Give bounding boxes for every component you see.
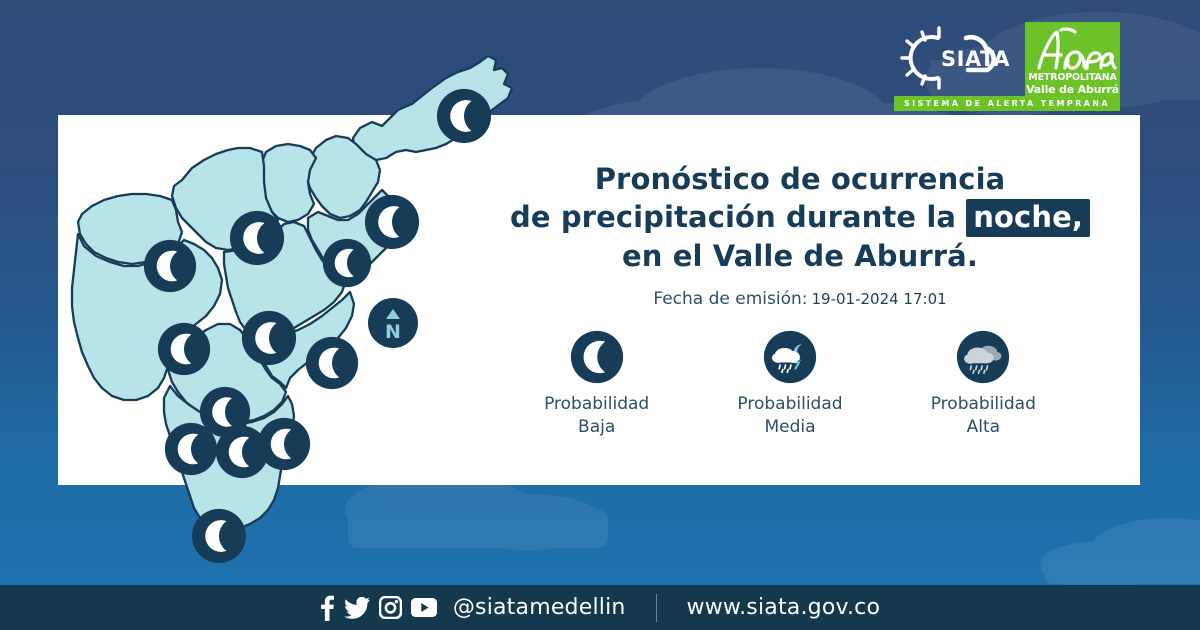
title-line-2: de precipitación durante la noche, — [480, 198, 1120, 237]
map-marker-moon[interactable] — [192, 509, 246, 563]
legend-label-alta: Probabilidad Alta — [898, 393, 1068, 439]
twitter-icon[interactable] — [344, 597, 370, 619]
legend-label-baja: Probabilidad Baja — [512, 393, 682, 439]
siata-tagline: SISTEMA DE ALERTA TEMPRANA — [894, 96, 1120, 111]
svg-text:N: N — [385, 321, 401, 343]
title-line-1: Pronóstico de ocurrencia — [480, 160, 1120, 198]
map-marker-moon[interactable] — [323, 239, 371, 287]
map-marker-moon[interactable] — [230, 211, 284, 265]
area-line2: Valle de Aburrá — [1025, 83, 1120, 96]
social-handle[interactable]: @siatamedellin — [453, 595, 626, 620]
map-svg: N — [60, 48, 540, 568]
area-line1: METROPOLITANA — [1025, 72, 1120, 83]
cloud-heavy-rain-icon — [956, 330, 1010, 384]
youtube-icon[interactable] — [411, 598, 437, 617]
legend-label-baja-line1: Probabilidad — [512, 393, 682, 416]
valle-de-aburra-map: N — [60, 48, 540, 568]
legend-item-alta: Probabilidad Alta — [898, 330, 1068, 439]
emission-value: 19-01-2024 17:01 — [811, 290, 946, 308]
page-title: Pronóstico de ocurrencia de precipitació… — [470, 160, 1130, 275]
map-marker-moon[interactable] — [242, 311, 296, 365]
map-marker-moon[interactable] — [437, 89, 491, 143]
instagram-icon[interactable] — [379, 596, 402, 619]
footer-content: @siatamedellin www.siata.gov.co — [0, 585, 1200, 630]
probability-legend: Probabilidad Baja — [500, 330, 1080, 439]
map-marker-moon[interactable] — [158, 323, 210, 375]
legend-label-baja-line2: Baja — [512, 416, 682, 439]
area-script-icon — [1025, 24, 1120, 74]
map-marker-moon[interactable] — [258, 418, 310, 470]
moon-icon — [570, 330, 624, 384]
compass-north-icon: N — [368, 298, 418, 348]
legend-item-baja: Probabilidad Baja — [512, 330, 682, 439]
map-marker-moon[interactable] — [365, 195, 419, 249]
legend-item-media: Probabilidad Media — [705, 330, 875, 439]
map-marker-moon[interactable] — [306, 337, 358, 389]
legend-label-media: Probabilidad Media — [705, 393, 875, 439]
social-icons — [320, 595, 437, 621]
emission-date: Fecha de emisión:19-01-2024 17:01 — [470, 289, 1130, 309]
title-line-3: en el Valle de Aburrá. — [480, 237, 1120, 275]
area-metropolitana-logo: METROPOLITANA Valle de Aburrá — [1025, 22, 1120, 100]
title-highlight-noche: noche, — [966, 199, 1090, 237]
website-url[interactable]: www.siata.gov.co — [687, 595, 881, 620]
map-marker-moon[interactable] — [165, 423, 217, 475]
legend-label-alta-line1: Probabilidad — [898, 393, 1068, 416]
facebook-icon[interactable] — [320, 595, 335, 621]
cloud-rain-moon-icon — [763, 330, 817, 384]
svg-text:SIATA: SIATA — [941, 47, 1010, 71]
map-marker-moon[interactable] — [144, 240, 196, 292]
legend-label-alta-line2: Alta — [898, 416, 1068, 439]
footer-divider — [656, 594, 657, 622]
siata-logo: SIATA — [894, 22, 1019, 94]
legend-label-media-line1: Probabilidad — [705, 393, 875, 416]
legend-label-media-line2: Media — [705, 416, 875, 439]
poster-canvas: SIATA METROPOLITANA Valle de Aburrá SIST… — [0, 0, 1200, 630]
emission-label: Fecha de emisión: — [653, 289, 807, 309]
title-line-2-text: de precipitación durante la — [510, 200, 956, 234]
